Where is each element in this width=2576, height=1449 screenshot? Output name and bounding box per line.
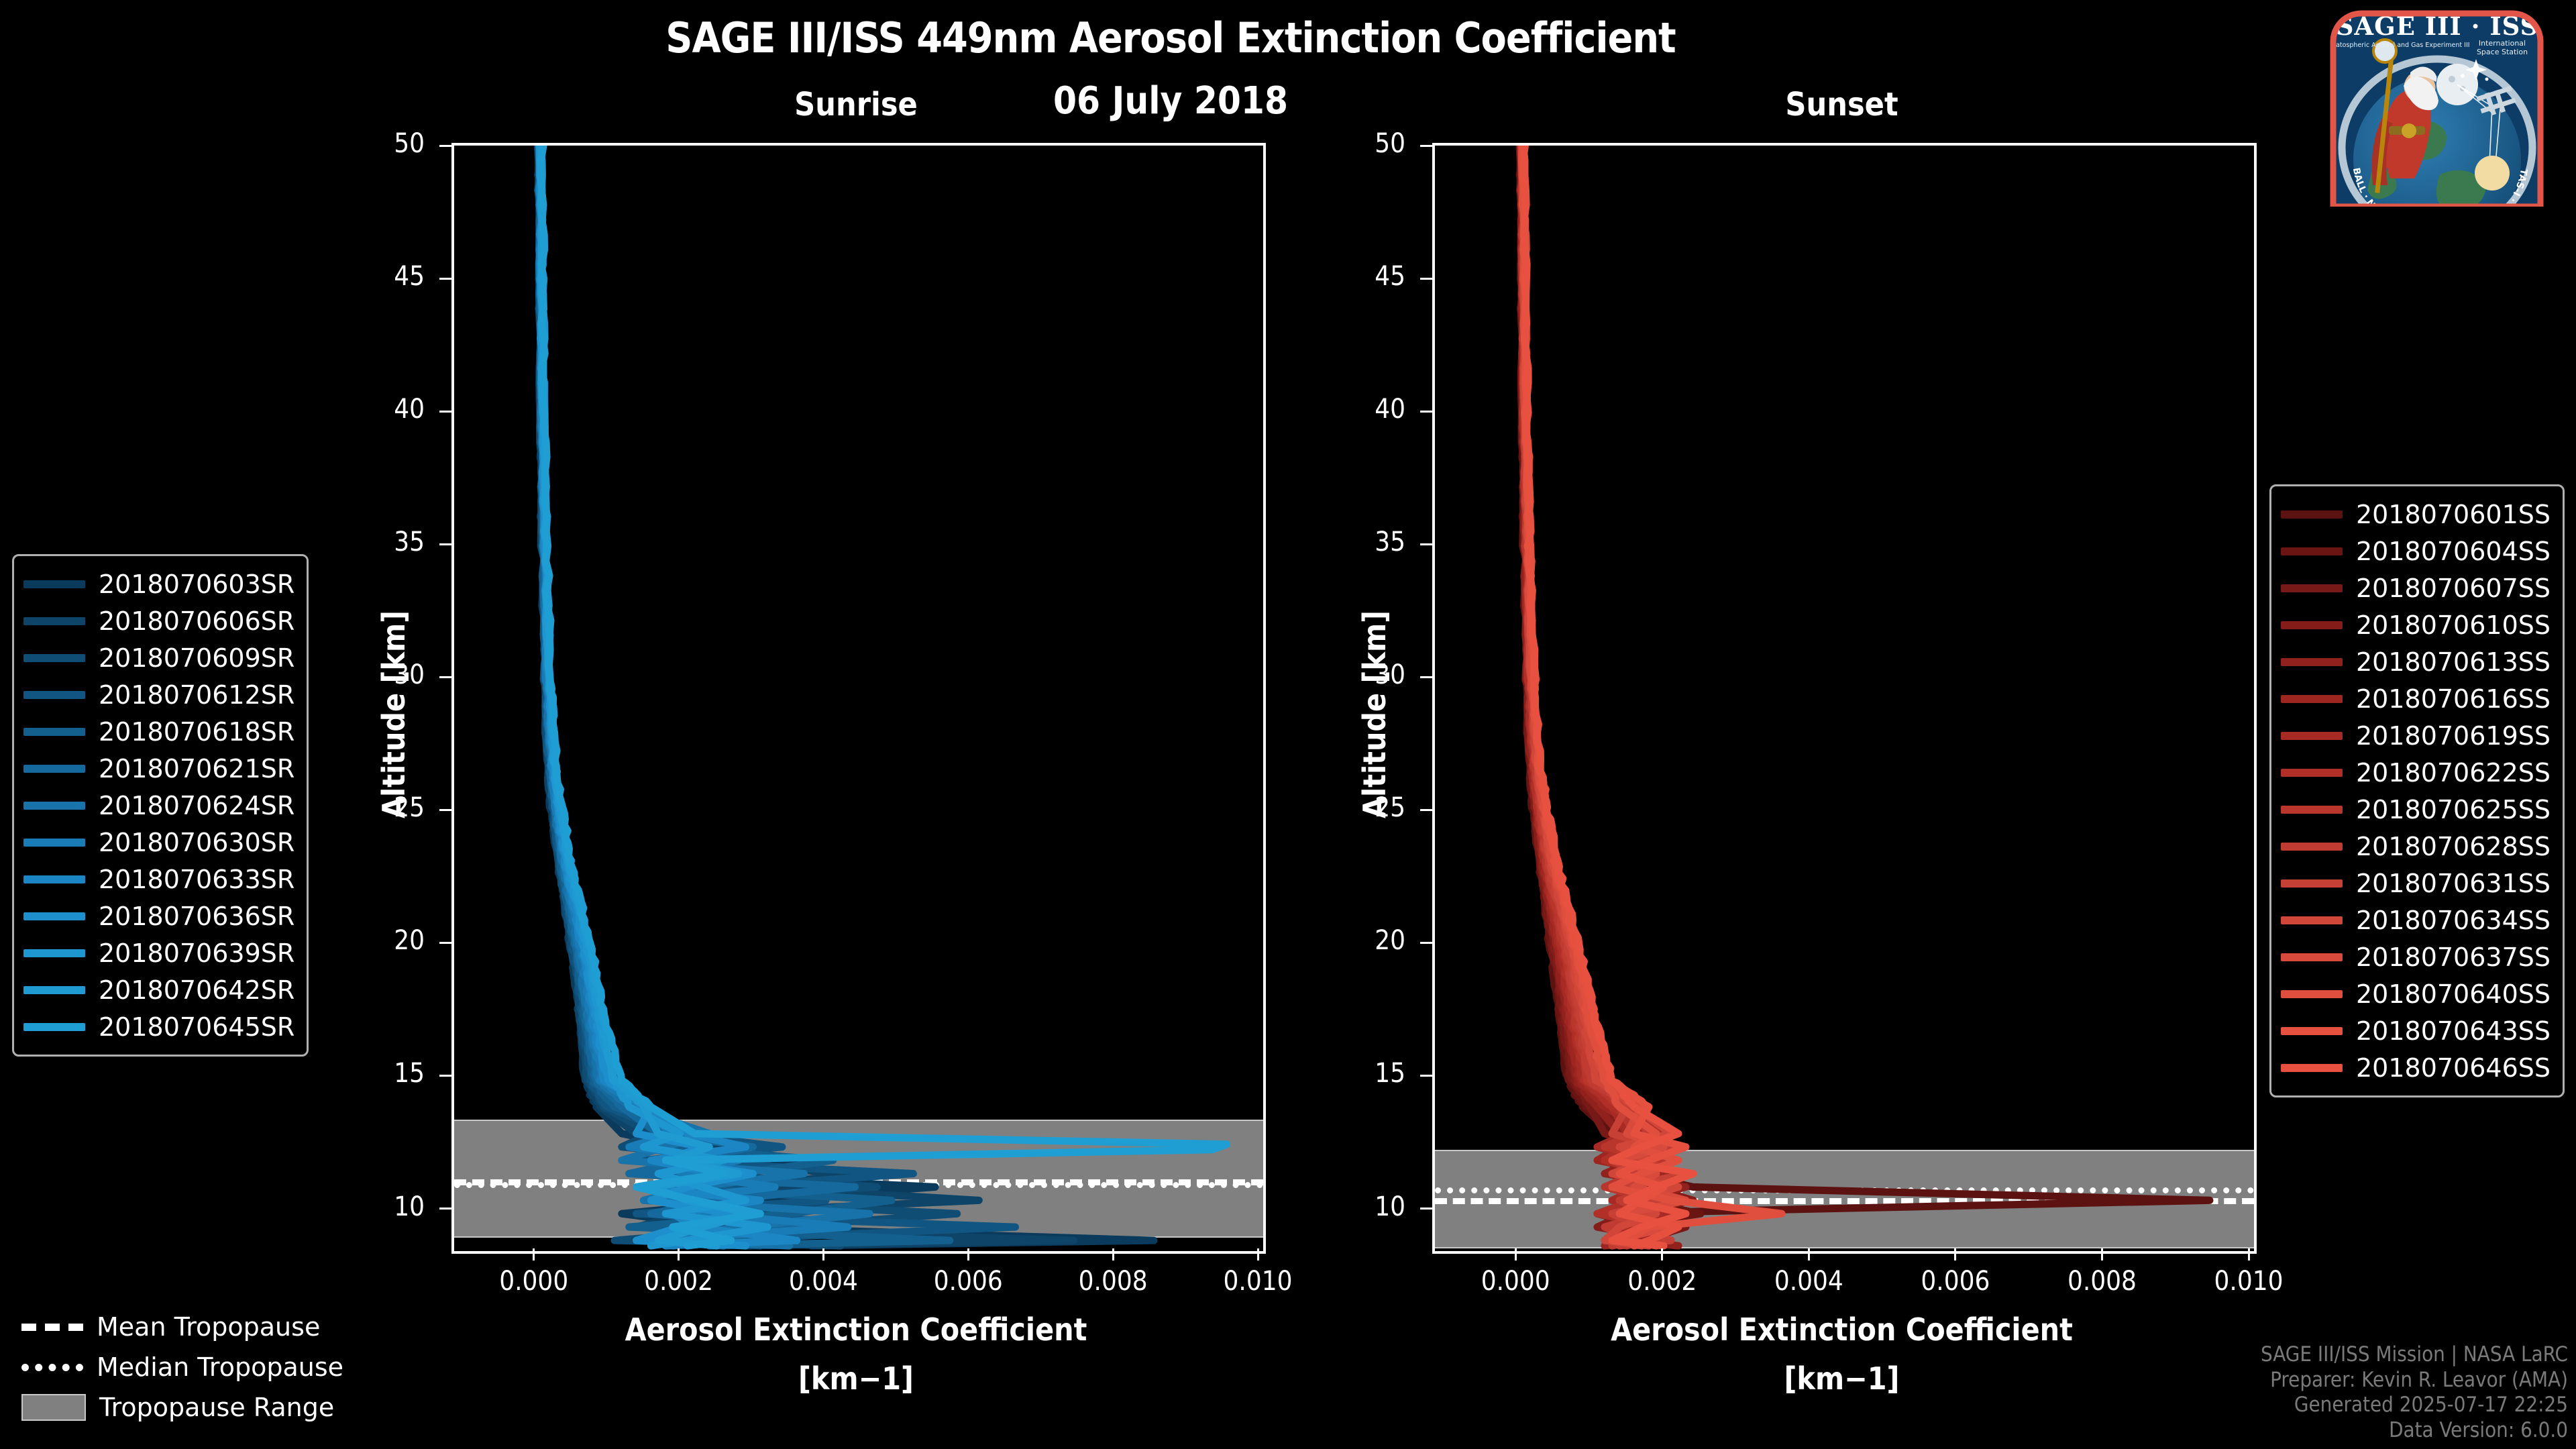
- sunset-legend-item-color-swatch: [2281, 953, 2343, 961]
- sunrise-legend-item-color-swatch: [23, 691, 85, 699]
- x-tick-label: 0.006: [1882, 1266, 2029, 1297]
- y-tick-label: 10: [1311, 1191, 1405, 1222]
- sunset-plot-area: [1432, 143, 2257, 1254]
- sunrise-legend-item-row[interactable]: 2018070642SR: [23, 971, 294, 1008]
- y-tick-label: 50: [1311, 128, 1405, 159]
- sunrise-legend-item-color-swatch: [23, 765, 85, 773]
- y-tick-label: 35: [331, 527, 425, 557]
- credits-generated: Generated 2025-07-17 22:25: [2261, 1393, 2568, 1418]
- dotted-line-icon: [21, 1364, 83, 1371]
- sage-iii-iss-mission-patch-icon: SAGE III · ISS Stratospheric Aerosol and…: [2291, 5, 2566, 207]
- sunrise-xaxis-title-line2: [km−1]: [451, 1360, 1260, 1397]
- sunrise-legend-item-label: 2018070618SR: [99, 717, 294, 747]
- x-tick: [2101, 1248, 2103, 1260]
- x-tick: [1808, 1248, 1810, 1260]
- series-line: [541, 146, 1227, 1246]
- x-tick: [967, 1248, 969, 1260]
- sunset-legend-item-label: 2018070613SS: [2356, 647, 2551, 677]
- sunset-legend-item-label: 2018070616SS: [2356, 684, 2551, 714]
- x-tick-label: 0.004: [1735, 1266, 1882, 1297]
- sunset-legend-item-color-swatch: [2281, 916, 2343, 924]
- y-tick: [439, 278, 451, 280]
- sunrise-legend-item-row[interactable]: 2018070618SR: [23, 713, 294, 750]
- sunrise-legend-item-label: 2018070642SR: [99, 975, 294, 1005]
- sunset-legend-item-label: 2018070622SS: [2356, 758, 2551, 788]
- sunset-legend-item-color-swatch: [2281, 843, 2343, 851]
- sunset-xaxis-title-line1: Aerosol Extinction Coefficient: [1432, 1311, 2251, 1348]
- y-tick: [1420, 809, 1432, 811]
- sunset-xaxis-title-line2: [km−1]: [1432, 1360, 2251, 1397]
- legend-row-tropopause-range: Tropopause Range: [12, 1387, 343, 1428]
- y-tick: [1420, 942, 1432, 944]
- sunset-legend-item-row[interactable]: 2018070628SS: [2281, 828, 2551, 865]
- series-line: [540, 146, 753, 1246]
- x-tick-label: 0.008: [2028, 1266, 2176, 1297]
- sunset-legend-item-color-swatch: [2281, 769, 2343, 777]
- sunset-legend-item-row[interactable]: 2018070613SS: [2281, 643, 2551, 680]
- sunrise-legend-item-color-swatch: [23, 1023, 85, 1031]
- sunset-legend-item-row[interactable]: 2018070643SS: [2281, 1012, 2551, 1049]
- y-tick-label: 40: [331, 394, 425, 425]
- x-tick-label: 0.000: [460, 1266, 608, 1297]
- x-tick: [1257, 1248, 1259, 1260]
- credits-block: SAGE III/ISS Mission | NASA LaRC Prepare…: [2261, 1342, 2568, 1444]
- sunrise-legend-item-label: 2018070639SR: [99, 938, 294, 968]
- sunset-legend-item-color-swatch: [2281, 511, 2343, 519]
- sunrise-legend-item-row[interactable]: 2018070639SR: [23, 934, 294, 971]
- credits-data-version: Data Version: 6.0.0: [2261, 1418, 2568, 1444]
- x-tick-label: 0.004: [749, 1266, 897, 1297]
- legend-label-tropopause-range: Tropopause Range: [99, 1393, 334, 1422]
- series-line: [539, 146, 768, 1246]
- sunrise-legend-item-row[interactable]: 2018070621SR: [23, 750, 294, 787]
- sunset-legend-item-row[interactable]: 2018070622SS: [2281, 754, 2551, 791]
- y-tick: [1420, 676, 1432, 678]
- sunrise-legend-item-row[interactable]: 2018070645SR: [23, 1008, 294, 1045]
- sunset-legend-item-color-swatch: [2281, 990, 2343, 998]
- legend-label-mean-tropopause: Mean Tropopause: [97, 1312, 320, 1342]
- x-tick-label: 0.000: [1442, 1266, 1589, 1297]
- x-tick: [1661, 1248, 1663, 1260]
- page-title: SAGE III/ISS 449nm Aerosol Extinction Co…: [0, 13, 2459, 62]
- sunrise-legend-item-color-swatch: [23, 617, 85, 625]
- sunrise-legend-item-label: 2018070603SR: [99, 570, 294, 599]
- y-tick-label: 15: [1311, 1058, 1405, 1089]
- legend-label-median-tropopause: Median Tropopause: [97, 1352, 343, 1382]
- sunrise-legend-item-row[interactable]: 2018070612SR: [23, 676, 294, 713]
- legend-row-mean-tropopause: Mean Tropopause: [12, 1307, 343, 1347]
- sunrise-legend-item-label: 2018070606SR: [99, 606, 294, 636]
- x-tick: [2248, 1248, 2250, 1260]
- sunset-legend-item-color-swatch: [2281, 1027, 2343, 1035]
- sunset-legend-item-color-swatch: [2281, 695, 2343, 703]
- band-swatch-icon: [21, 1394, 86, 1421]
- sunset-legend-item-label: 2018070601SS: [2356, 500, 2551, 529]
- sunset-legend-item-row[interactable]: 2018070646SS: [2281, 1049, 2551, 1086]
- sunrise-legend-item-row[interactable]: 2018070633SR: [23, 861, 294, 898]
- x-tick-label: 0.008: [1039, 1266, 1187, 1297]
- dashed-line-icon: [21, 1324, 83, 1331]
- y-tick: [1420, 278, 1432, 280]
- y-tick-label: 40: [1311, 394, 1405, 425]
- sunset-legend-item-label: 2018070646SS: [2356, 1053, 2551, 1083]
- sunset-legend-item-label: 2018070634SS: [2356, 906, 2551, 935]
- x-tick: [533, 1248, 535, 1260]
- sunset-legend-item-color-swatch: [2281, 547, 2343, 555]
- y-tick-label: 20: [331, 925, 425, 956]
- figure-canvas: SAGE III/ISS 449nm Aerosol Extinction Co…: [0, 0, 2576, 1449]
- sunrise-legend-item-color-swatch: [23, 654, 85, 662]
- svg-text:International: International: [2479, 39, 2526, 48]
- sunrise-legend[interactable]: 2018070603SR2018070606SR2018070609SR2018…: [12, 554, 309, 1057]
- sunrise-legend-item-color-swatch: [23, 802, 85, 810]
- y-tick-label: 20: [1311, 925, 1405, 956]
- y-tick: [1420, 1207, 1432, 1210]
- credits-preparer: Preparer: Kevin R. Leavor (AMA): [2261, 1368, 2568, 1393]
- series-line: [1519, 146, 2210, 1246]
- sunset-legend-item-color-swatch: [2281, 584, 2343, 592]
- sunset-legend-item-row[interactable]: 2018070616SS: [2281, 680, 2551, 717]
- y-tick: [1420, 145, 1432, 147]
- sunset-legend-item-row[interactable]: 2018070634SS: [2281, 902, 2551, 938]
- series-line: [539, 146, 796, 1246]
- tropopause-legend: Mean Tropopause Median Tropopause Tropop…: [12, 1307, 343, 1428]
- y-tick: [439, 411, 451, 413]
- x-tick-label: 0.010: [1184, 1266, 1332, 1297]
- y-tick: [1420, 411, 1432, 413]
- x-tick-label: 0.002: [605, 1266, 753, 1297]
- sunrise-series-lines: [454, 146, 1263, 1251]
- x-tick: [1112, 1248, 1114, 1260]
- sunset-legend-item-row[interactable]: 2018070640SS: [2281, 975, 2551, 1012]
- sunset-legend-item-label: 2018070619SS: [2356, 721, 2551, 751]
- y-tick-label: 50: [331, 128, 425, 159]
- sunrise-legend-item-row[interactable]: 2018070606SR: [23, 602, 294, 639]
- x-tick-label: 0.002: [1589, 1266, 1736, 1297]
- sunset-legend-item-color-swatch: [2281, 732, 2343, 740]
- sunset-legend-item-row[interactable]: 2018070631SS: [2281, 865, 2551, 902]
- x-tick: [822, 1248, 824, 1260]
- x-tick: [678, 1248, 680, 1260]
- series-line: [1522, 146, 1782, 1246]
- sunset-legend-item-row[interactable]: 2018070625SS: [2281, 791, 2551, 828]
- sunset-legend-item-label: 2018070637SS: [2356, 943, 2551, 972]
- y-tick: [439, 676, 451, 678]
- y-tick: [439, 543, 451, 545]
- sunrise-legend-item-label: 2018070621SR: [99, 754, 294, 784]
- sunrise-legend-item-row[interactable]: 2018070603SR: [23, 566, 294, 602]
- sunrise-legend-item-color-swatch: [23, 912, 85, 920]
- y-tick: [1420, 1075, 1432, 1077]
- sunset-legend-item-label: 2018070607SS: [2356, 574, 2551, 603]
- sunset-legend-item-label: 2018070631SS: [2356, 869, 2551, 898]
- sunrise-legend-item-label: 2018070609SR: [99, 643, 294, 673]
- sunset-legend-item-label: 2018070643SS: [2356, 1016, 2551, 1046]
- x-tick-label: 0.010: [2175, 1266, 2322, 1297]
- sunset-legend-item-label: 2018070610SS: [2356, 610, 2551, 640]
- sunrise-legend-item-color-swatch: [23, 728, 85, 736]
- y-tick-label: 45: [1311, 261, 1405, 292]
- sunrise-xaxis-title-line1: Aerosol Extinction Coefficient: [451, 1311, 1260, 1348]
- y-tick-label: 10: [331, 1191, 425, 1222]
- sunrise-plot-area: [451, 143, 1266, 1254]
- sunrise-legend-item-color-swatch: [23, 580, 85, 588]
- sunrise-legend-item-label: 2018070612SR: [99, 680, 294, 710]
- sunset-legend-item-row[interactable]: 2018070607SS: [2281, 570, 2551, 606]
- x-tick: [1515, 1248, 1517, 1260]
- y-tick: [439, 1207, 451, 1210]
- sunset-series-lines: [1435, 146, 2254, 1251]
- sunset-legend-item-color-swatch: [2281, 879, 2343, 888]
- sunrise-legend-item-color-swatch: [23, 986, 85, 994]
- sunset-legend-item-row[interactable]: 2018070610SS: [2281, 606, 2551, 643]
- series-line: [539, 146, 753, 1246]
- sunrise-legend-item-label: 2018070633SR: [99, 865, 294, 894]
- svg-text:Space Station: Space Station: [2477, 48, 2528, 56]
- sunrise-legend-item-color-swatch: [23, 839, 85, 847]
- sunset-legend-item-row[interactable]: 2018070637SS: [2281, 938, 2551, 975]
- sunrise-legend-item-color-swatch: [23, 875, 85, 883]
- sunrise-panel-title: Sunrise: [451, 86, 1260, 123]
- sunrise-legend-item-label: 2018070624SR: [99, 791, 294, 820]
- y-tick: [439, 1075, 451, 1077]
- sunset-legend-item-color-swatch: [2281, 806, 2343, 814]
- y-tick-label: 35: [1311, 527, 1405, 557]
- sunset-legend-item-row[interactable]: 2018070619SS: [2281, 717, 2551, 754]
- sunrise-legend-item-color-swatch: [23, 949, 85, 957]
- sunset-legend-item-color-swatch: [2281, 658, 2343, 666]
- y-tick: [439, 145, 451, 147]
- sunset-legend-item-color-swatch: [2281, 621, 2343, 629]
- sunset-legend-item-label: 2018070604SS: [2356, 537, 2551, 566]
- y-tick-label: 15: [331, 1058, 425, 1089]
- sunrise-legend-item-row[interactable]: 2018070624SR: [23, 787, 294, 824]
- sunrise-legend-item-row[interactable]: 2018070630SR: [23, 824, 294, 861]
- y-tick: [439, 942, 451, 944]
- sunset-legend-item-row[interactable]: 2018070601SS: [2281, 496, 2551, 533]
- sunrise-legend-item-label: 2018070630SR: [99, 828, 294, 857]
- series-line: [1523, 146, 1693, 1246]
- sunrise-legend-item-label: 2018070636SR: [99, 902, 294, 931]
- x-tick-label: 0.006: [894, 1266, 1042, 1297]
- sunrise-yaxis-title: Altitude [km]: [376, 610, 412, 818]
- sunset-legend[interactable]: 2018070601SS2018070604SS2018070607SS2018…: [2269, 484, 2565, 1097]
- sunrise-legend-item-label: 2018070645SR: [99, 1012, 294, 1042]
- sunset-legend-item-color-swatch: [2281, 1064, 2343, 1072]
- series-line: [537, 146, 1154, 1246]
- credits-mission: SAGE III/ISS Mission | NASA LaRC: [2261, 1342, 2568, 1368]
- x-tick: [1954, 1248, 1956, 1260]
- sunrise-legend-item-row[interactable]: 2018070636SR: [23, 898, 294, 934]
- sunset-legend-item-row[interactable]: 2018070604SS: [2281, 533, 2551, 570]
- sunrise-legend-item-row[interactable]: 2018070609SR: [23, 639, 294, 676]
- y-tick: [1420, 543, 1432, 545]
- legend-row-median-tropopause: Median Tropopause: [12, 1347, 343, 1387]
- svg-text:Stratospheric Aerosol and Gas: Stratospheric Aerosol and Gas Experiment…: [2326, 42, 2469, 49]
- sunset-legend-item-label: 2018070625SS: [2356, 795, 2551, 824]
- sunset-panel-title: Sunset: [1432, 86, 2251, 123]
- sunset-legend-item-label: 2018070640SS: [2356, 979, 2551, 1009]
- sunset-yaxis-title: Altitude [km]: [1356, 610, 1393, 818]
- y-tick-label: 45: [331, 261, 425, 292]
- y-tick: [439, 809, 451, 811]
- sunset-legend-item-label: 2018070628SS: [2356, 832, 2551, 861]
